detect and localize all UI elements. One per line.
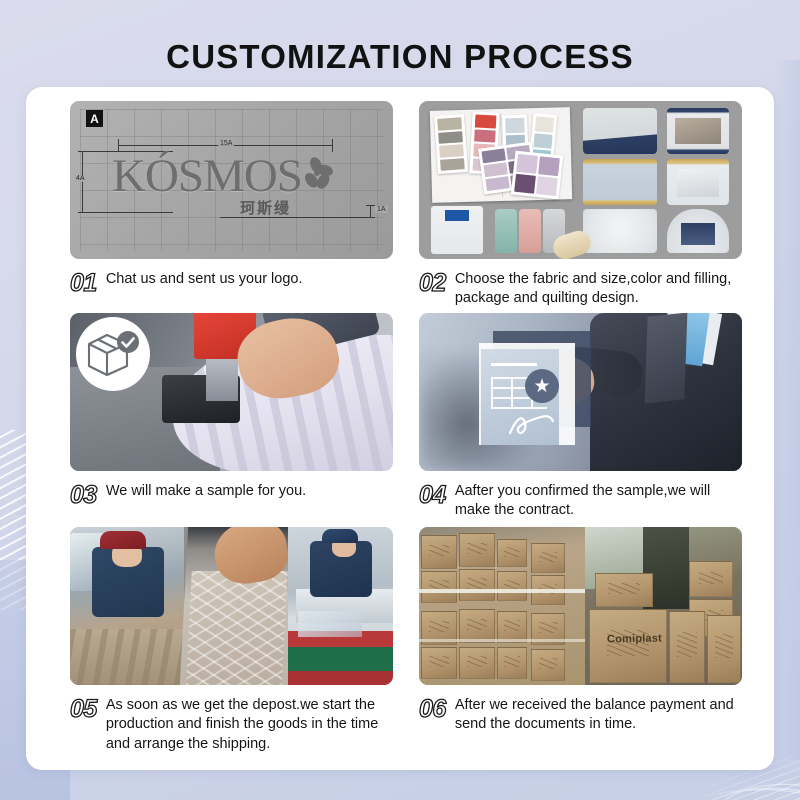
dimension-line	[82, 151, 83, 213]
box-check-icon	[76, 317, 150, 391]
suit-lapel	[645, 313, 688, 403]
palletized-cartons-image	[419, 527, 585, 685]
step-number: 05	[70, 696, 97, 722]
shipping-cartons-photo: Comiplast	[419, 527, 742, 685]
packing-line-image	[288, 527, 393, 685]
dimension-label-4a: 4A	[74, 175, 87, 182]
fabric-cutting-photo	[70, 313, 393, 471]
step-number: 04	[419, 482, 446, 508]
badge-letter-a: A	[86, 110, 103, 127]
step-description: After we received the balance payment an…	[455, 696, 735, 735]
step-item-02: 02 Choose the fabric and size,color and …	[419, 101, 742, 313]
content-card: KÓSMOS 珂斯缦 15A 4A 1A A	[26, 87, 774, 770]
product-package	[667, 108, 729, 154]
star-seal-icon: ★	[525, 369, 559, 403]
step-number: 06	[419, 696, 446, 722]
dimension-label-1a: 1A	[375, 206, 388, 213]
dimension-line	[78, 212, 173, 213]
step-caption: 06 After we received the balance payment…	[419, 696, 742, 735]
poster-root: CUSTOMIZATION PROCESS KÓSMOS	[0, 0, 800, 800]
logo-wordmark: KÓSMOS	[112, 153, 302, 200]
product-package-box	[431, 206, 483, 254]
step-caption: 02 Choose the fabric and size,color and …	[419, 270, 742, 309]
dimension-line	[366, 217, 375, 218]
step-description: Aafter you confirmed the sample,we will …	[455, 482, 735, 521]
step-item-06: Comiplast 06 After we received the balan…	[419, 527, 742, 761]
container-loading-image: Comiplast	[585, 527, 742, 685]
page-title: CUSTOMIZATION PROCESS	[0, 38, 800, 76]
dimension-line	[332, 139, 333, 152]
product-package	[583, 108, 657, 154]
step-item-05: 05 As soon as we get the depost.we start…	[70, 527, 393, 761]
swatch-card	[511, 151, 563, 200]
step-number: 03	[70, 482, 97, 508]
logo-chinese-text: 珂斯缦	[240, 197, 291, 218]
step-description: Chat us and sent us your logo.	[106, 270, 303, 289]
step-caption: 03 We will make a sample for you.	[70, 482, 393, 508]
step-item-03: 03 We will make a sample for you.	[70, 313, 393, 527]
carton-brand-label: Comiplast	[607, 633, 662, 646]
product-package	[583, 159, 657, 205]
product-package	[667, 159, 729, 205]
flower-icon	[298, 156, 334, 192]
step-item-01: KÓSMOS 珂斯缦 15A 4A 1A A	[70, 101, 393, 313]
product-package	[667, 209, 729, 253]
step-number: 01	[70, 270, 97, 296]
swatch-card	[434, 114, 468, 174]
step-number: 02	[419, 270, 446, 296]
step-description: As soon as we get the depost.we start th…	[106, 696, 386, 754]
step-item-04: ★ 04 Aafter you confirmed the sample,we …	[419, 313, 742, 527]
fabric-roll	[495, 209, 517, 253]
steps-grid: KÓSMOS 珂斯缦 15A 4A 1A A	[70, 101, 742, 761]
step-caption: 04 Aafter you confirmed the sample,we wi…	[419, 482, 742, 521]
decorative-right-edge	[774, 60, 800, 760]
dimension-label-15a: 15A	[218, 140, 234, 147]
step-caption: 05 As soon as we get the depost.we start…	[70, 696, 393, 754]
fabric-swatches-photo	[419, 101, 742, 259]
fabric-roll	[519, 209, 541, 253]
step-description: We will make a sample for you.	[106, 482, 306, 501]
signature-icon	[507, 411, 557, 441]
production-collage-photo	[70, 527, 393, 685]
worker-sewing-image	[70, 527, 184, 685]
contract-handshake-photo: ★	[419, 313, 742, 471]
quilting-detail-image	[180, 527, 296, 685]
product-package	[583, 209, 657, 253]
machine-blade-housing	[206, 357, 238, 401]
step-description: Choose the fabric and size,color and fil…	[455, 270, 735, 309]
step-caption: 01 Chat us and sent us your logo.	[70, 270, 393, 296]
dimension-line	[366, 205, 375, 206]
logo-spec-photo: KÓSMOS 珂斯缦 15A 4A 1A A	[70, 101, 393, 259]
